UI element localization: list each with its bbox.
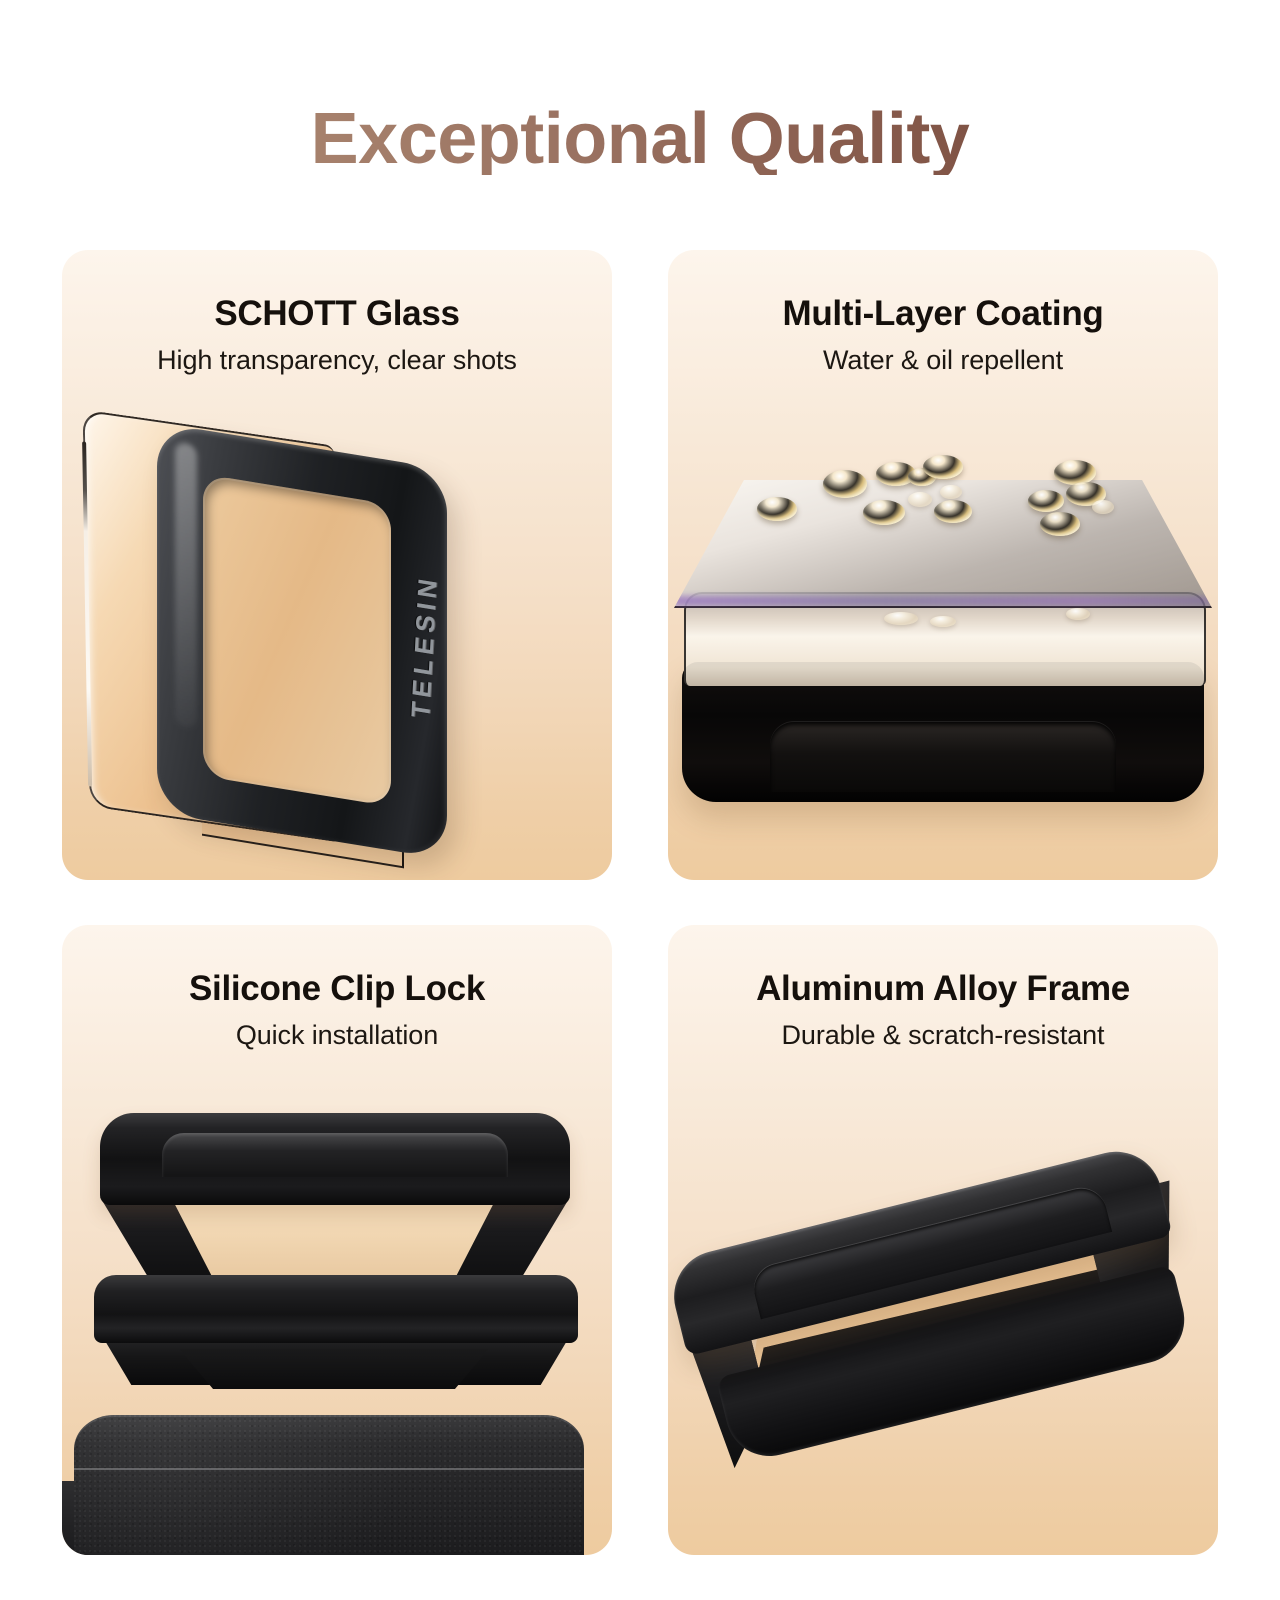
water-droplet [757, 497, 797, 521]
alloy-frame: TELESIN [157, 423, 447, 860]
water-droplet [863, 500, 905, 525]
water-droplet [908, 492, 932, 507]
water-droplet [1066, 608, 1090, 620]
card-subtitle: Water & oil repellent [668, 344, 1218, 376]
camera-body [74, 1415, 584, 1555]
frame-glint [175, 441, 197, 729]
feature-card-silicone-clip-lock: Silicone Clip Lock Quick installation [62, 925, 612, 1555]
card-title: Aluminum Alloy Frame [668, 969, 1218, 1008]
feature-card-aluminum-alloy-frame: Aluminum Alloy Frame Durable & scratch-r… [668, 925, 1218, 1555]
water-droplet [934, 500, 972, 523]
lower-frame-window [166, 1349, 502, 1389]
feature-card-schott-glass: SCHOTT Glass High transparency, clear sh… [62, 250, 612, 880]
water-droplet [884, 612, 918, 625]
card-header: Silicone Clip Lock Quick installation [62, 925, 612, 1052]
brand-logo-text: TELESIN [405, 572, 444, 721]
frame-window [203, 474, 391, 806]
card-header: SCHOTT Glass High transparency, clear sh… [62, 250, 612, 377]
frame-groove [770, 722, 1116, 792]
card-subtitle: Quick installation [62, 1019, 612, 1051]
feature-card-multi-layer-coating: Multi-Layer Coating Water & oil repellen… [668, 250, 1218, 880]
camera-body-seam [74, 1468, 584, 1470]
alloy-frame-assembly [668, 1095, 1218, 1540]
water-droplet [940, 485, 962, 499]
card-title: Silicone Clip Lock [62, 969, 612, 1008]
card-header: Multi-Layer Coating Water & oil repellen… [668, 250, 1218, 377]
water-droplet [930, 616, 956, 627]
water-droplet [823, 470, 867, 498]
page-title: Exceptional Quality [0, 0, 1280, 175]
card-title: Multi-Layer Coating [668, 294, 1218, 333]
water-droplet [1040, 512, 1080, 536]
coated-glass-sheet [674, 480, 1212, 608]
upper-frame-window [158, 1199, 510, 1281]
card-subtitle: High transparency, clear shots [62, 344, 612, 376]
card-title: SCHOTT Glass [62, 294, 612, 333]
glass-edge-highlight [82, 441, 92, 786]
water-droplet [923, 455, 963, 479]
water-droplet [1028, 490, 1064, 512]
water-droplet [1092, 500, 1114, 514]
lower-clip-frame [94, 1275, 578, 1343]
feature-grid: SCHOTT Glass High transparency, clear sh… [62, 250, 1218, 1555]
card-header: Aluminum Alloy Frame Durable & scratch-r… [668, 925, 1218, 1052]
card-subtitle: Durable & scratch-resistant [668, 1019, 1218, 1051]
camera-body-texture [74, 1415, 584, 1555]
upper-clip-frame [100, 1113, 570, 1205]
glass-edge-iridescence [674, 596, 1212, 606]
